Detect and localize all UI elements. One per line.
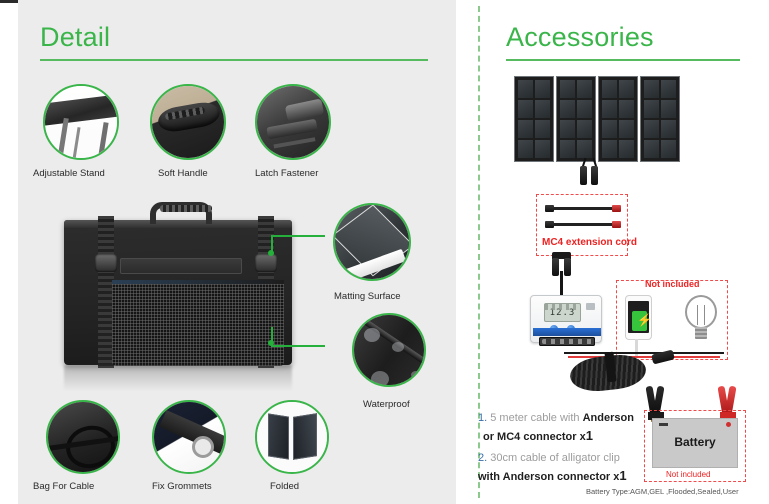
feature-circle-bag-for-cable [46,400,120,474]
accessories-header: Accessories [506,22,740,61]
feature-label-folded: Folded [270,481,299,492]
feature-circle-folded [255,400,329,474]
feature-circle-adjustable-stand [43,84,119,160]
battery-not-included-label: Not included [666,470,710,479]
fix-grommets-photo [154,402,224,472]
list-item-1-number: 1. [478,412,487,424]
bag-reflection [64,365,292,391]
accessories-section: Accessories [456,0,769,504]
adjustable-stand-photo [45,86,117,158]
accessories-list: 1. 5 meter cable with Anderson or MC4 co… [478,410,648,486]
mc4-cord-2 [545,221,621,228]
feature-label-fix-grommets: Fix Grommets [152,481,212,492]
feature-circle-fix-grommets [152,400,226,474]
battery-unit: Battery [652,418,738,468]
accessories-title-rule [506,59,740,61]
list-item-1-line2: or MC4 connector x1 [478,427,648,446]
feature-label-latch-fastener: Latch Fastener [255,168,318,179]
leader-line-matting-horizontal [271,235,325,237]
solar-panel-array [514,76,680,162]
feature-label-soft-handle: Soft Handle [158,168,208,179]
controller-brand-strip [533,328,601,336]
leader-line-waterproof-horizontal [271,345,325,347]
solar-panel-4 [640,76,680,162]
battery-label: Battery [653,435,737,449]
mc4-extension-cord-label: MC4 extension cord [542,237,637,248]
controller-terminal-block [539,337,595,346]
list-item-1-text: 5 meter cable with [490,412,582,424]
solar-panel-3 [598,76,638,162]
controller-usb-port[interactable] [586,303,595,310]
lightning-bolt-icon: ⚡ [637,314,652,326]
list-item-2-line2: with Anderson connector x1 [478,467,648,486]
controller-input-wire [560,271,563,297]
list-item-1-line1: 1. 5 meter cable with Anderson [478,410,648,427]
detail-title-rule [40,59,428,61]
list-item-2-text: 30cm cable of alligator clip [490,452,620,464]
bag-buckle-left [95,254,117,272]
leader-dot-matting [268,250,274,256]
bag-for-cable-photo [48,402,118,472]
leader-dot-waterproof [268,340,274,346]
list-item-2-number: 2. [478,452,487,464]
folded-photo [257,402,327,472]
battery-type-footnote: Battery Type:AGM,GEL ,Flooded,Sealed,Use… [586,487,739,496]
list-item-2-line2-bold: with Anderson connector x [478,471,619,483]
bag-handle [150,202,212,224]
mc4-extension-cord-box: MC4 extension cord [536,194,628,256]
callout-label-matting-surface: Matting Surface [334,291,401,302]
detail-title: Detail [40,22,428,53]
mc4-cord-1 [545,205,621,212]
feature-circle-latch-fastener [255,84,331,160]
feature-circle-soft-handle [150,84,226,160]
light-bulb-filament [697,305,705,325]
infographic-page: Detail Adjustable Stand Soft Handle Latc… [0,0,769,504]
detail-section: Detail Adjustable Stand Soft Handle Latc… [18,0,456,504]
callout-circle-matting-surface [333,203,411,281]
not-included-label-top: Not included [645,279,700,289]
list-item-1-line2-bold: or MC4 connector x [483,431,586,443]
list-item-1-bold: Anderson [583,412,634,424]
not-included-accessories-box: Not included ⚡ [616,280,728,360]
panel-mc4-connectors [574,158,604,186]
bag-velcro-flap [120,258,242,274]
light-bulb-base [695,327,707,339]
list-item-1-qty: 1 [586,428,593,443]
latch-fastener-photo [257,86,329,158]
solar-panel-1 [514,76,554,162]
list-item-2-qty: 1 [619,468,626,483]
phone-device: ⚡ [625,295,652,340]
bag-buckle-right [255,254,277,272]
controller-lcd-icons [545,304,580,310]
list-item-2-line1: 2. 30cm cable of alligator clip [478,450,648,467]
solar-panel-2 [556,76,596,162]
solar-charge-controller: 12.3 [530,295,602,343]
callout-circle-waterproof [352,313,426,387]
negative-wire [564,352,724,354]
waterproof-photo [354,315,424,385]
feature-label-adjustable-stand: Adjustable Stand [33,168,105,179]
callout-label-waterproof: Waterproof [363,399,410,410]
phone-usb-cable [635,339,638,357]
bag-mesh-pocket [112,284,284,366]
battery-negative-terminal [659,423,668,426]
soft-handle-photo [152,86,224,158]
phone-screen: ⚡ [628,301,649,333]
matting-surface-photo [335,205,409,279]
battery-positive-terminal [726,422,731,427]
detail-header: Detail [40,22,428,61]
accessories-title: Accessories [506,22,740,53]
feature-label-bag-for-cable: Bag For Cable [33,481,94,492]
solar-panel-carry-bag-photo [54,198,304,403]
